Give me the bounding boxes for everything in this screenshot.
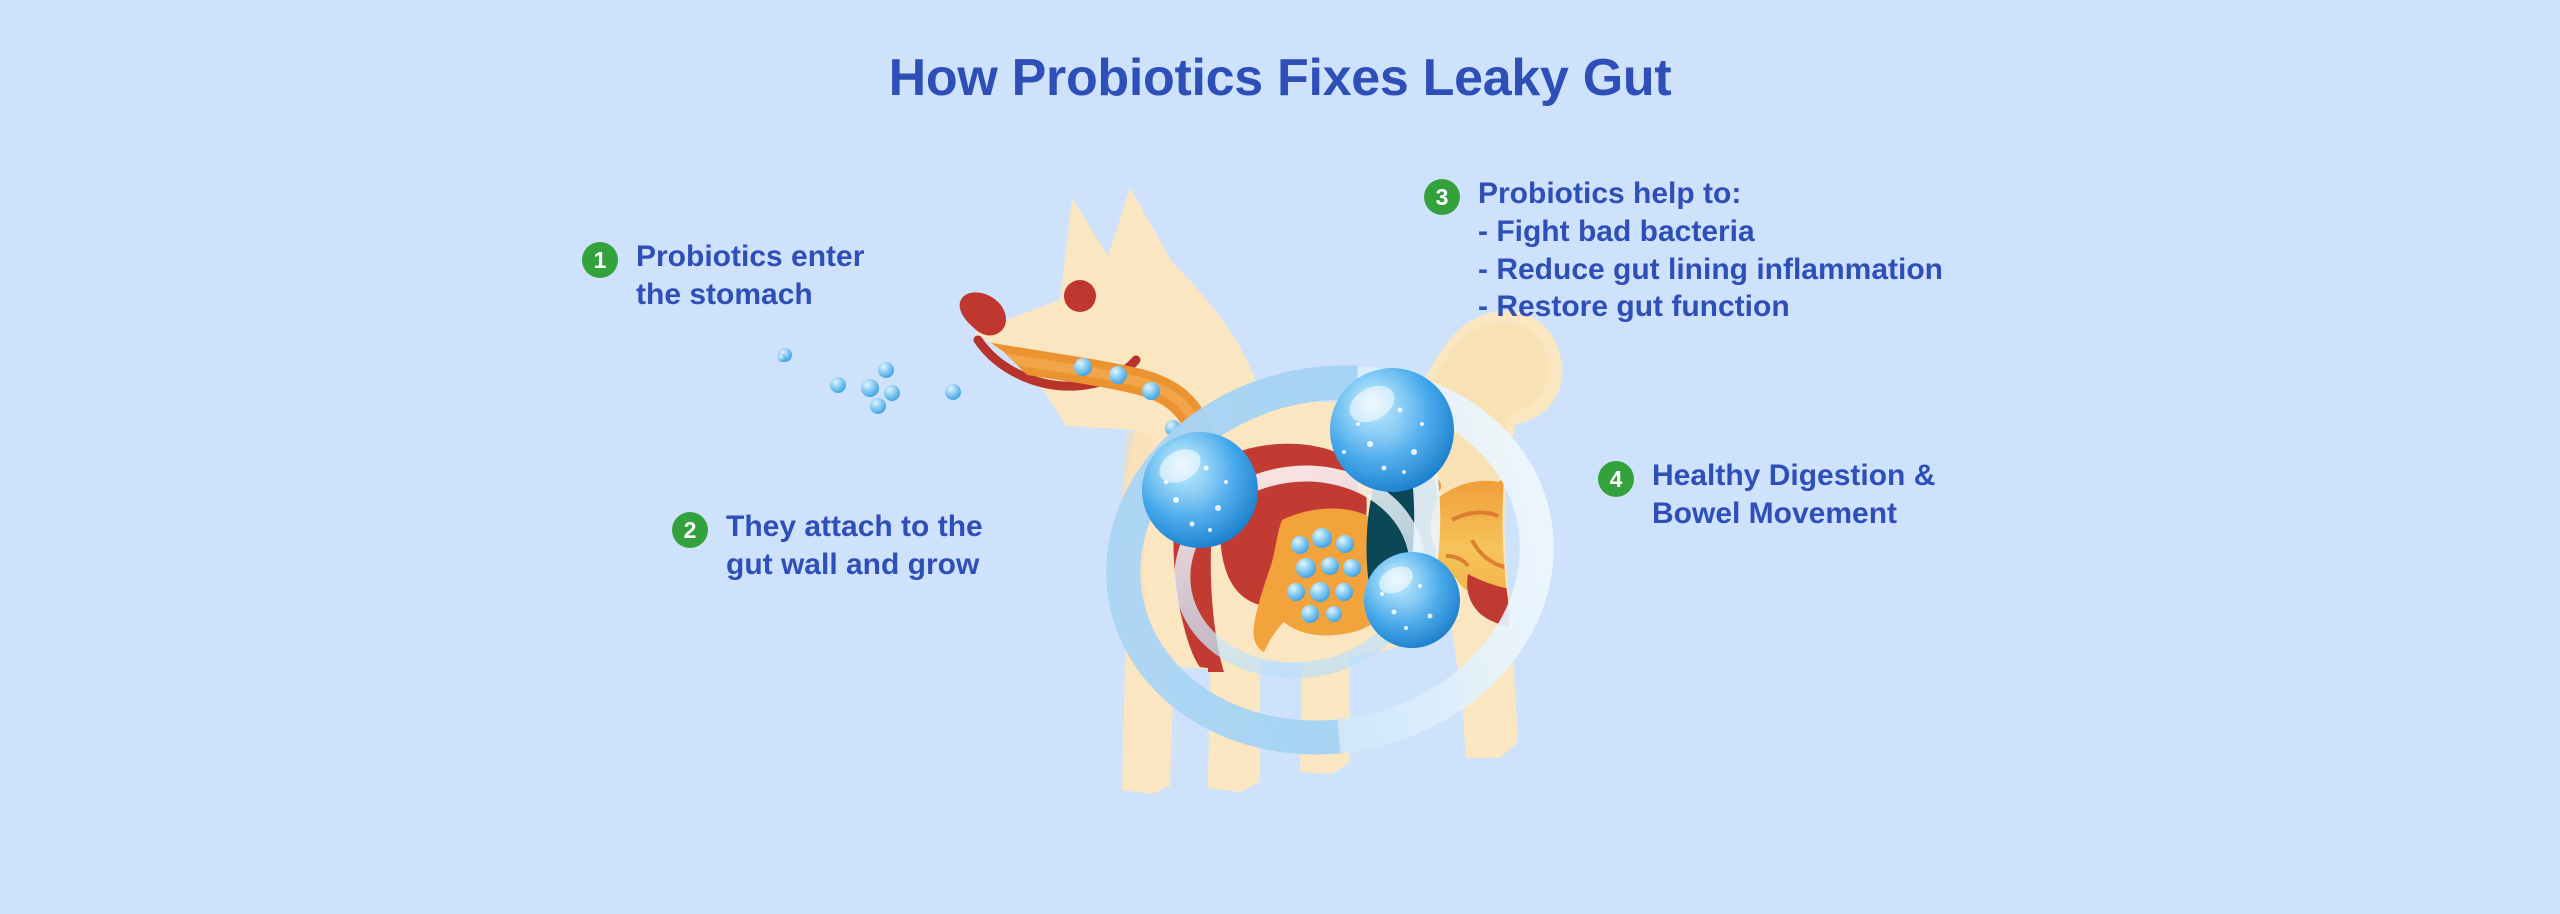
duodenum bbox=[1366, 483, 1432, 486]
probiotic-particle bbox=[778, 348, 792, 362]
callout-step-2[interactable]: 2 They attach to the gut wall and grow bbox=[672, 508, 983, 584]
infographic-canvas: How Probiotics Fixes Leaky Gut bbox=[0, 0, 2560, 914]
probiotic-sphere bbox=[1142, 432, 1258, 548]
callout-step-4[interactable]: 4 Healthy Digestion & Bowel Movement bbox=[1598, 457, 1935, 533]
step-badge-1: 1 bbox=[582, 242, 618, 278]
callout-step-1[interactable]: 1 Probiotics enter the stomach bbox=[582, 238, 864, 314]
esophagus bbox=[985, 355, 1232, 534]
dog-nose bbox=[960, 292, 1006, 335]
step-text-4: Healthy Digestion & Bowel Movement bbox=[1652, 457, 1935, 533]
liver bbox=[1220, 444, 1367, 608]
probiotic-particle bbox=[870, 398, 886, 414]
gut-protection-ring bbox=[1090, 345, 1570, 776]
probiotic-particle bbox=[861, 379, 879, 397]
probiotic-particle bbox=[945, 384, 961, 400]
step-badge-4: 4 bbox=[1598, 461, 1634, 497]
internal-organs bbox=[985, 355, 1631, 672]
floating-probiotic-particles bbox=[778, 348, 961, 414]
dog-mouth bbox=[978, 340, 1136, 386]
esophagus-highlight bbox=[985, 355, 1232, 534]
stomach bbox=[1253, 508, 1401, 652]
probiotic-particle bbox=[778, 354, 786, 362]
page-title: How Probiotics Fixes Leaky Gut bbox=[0, 48, 2560, 108]
stomach-probiotics bbox=[1287, 528, 1361, 623]
dog-chest-shading bbox=[1120, 430, 1152, 650]
step-badge-2: 2 bbox=[672, 512, 708, 548]
probiotic-particle bbox=[878, 362, 894, 378]
probiotic-sphere bbox=[1330, 368, 1454, 492]
spleen bbox=[1367, 458, 1440, 618]
step-badge-3: 3 bbox=[1424, 179, 1460, 215]
ring-band-vertical bbox=[1412, 418, 1427, 596]
step-text-2: They attach to the gut wall and grow bbox=[726, 508, 983, 584]
dog-eye bbox=[1064, 280, 1096, 312]
step-text-1: Probiotics enter the stomach bbox=[636, 238, 864, 314]
probiotic-spheres bbox=[1142, 368, 1460, 648]
dog-haunch-shading bbox=[1418, 322, 1549, 578]
step-text-3: Probiotics help to: - Fight bad bacteria… bbox=[1478, 175, 1943, 326]
probiotic-sphere bbox=[1364, 552, 1460, 648]
liver-left-lobe bbox=[1173, 464, 1228, 672]
dog-anatomy-illustration bbox=[0, 0, 2560, 914]
callout-step-3[interactable]: 3 Probiotics help to: - Fight bad bacter… bbox=[1424, 175, 1943, 326]
probiotic-particle bbox=[830, 377, 846, 393]
probiotic-particle bbox=[884, 385, 900, 401]
esophagus-probiotics bbox=[1074, 358, 1198, 478]
